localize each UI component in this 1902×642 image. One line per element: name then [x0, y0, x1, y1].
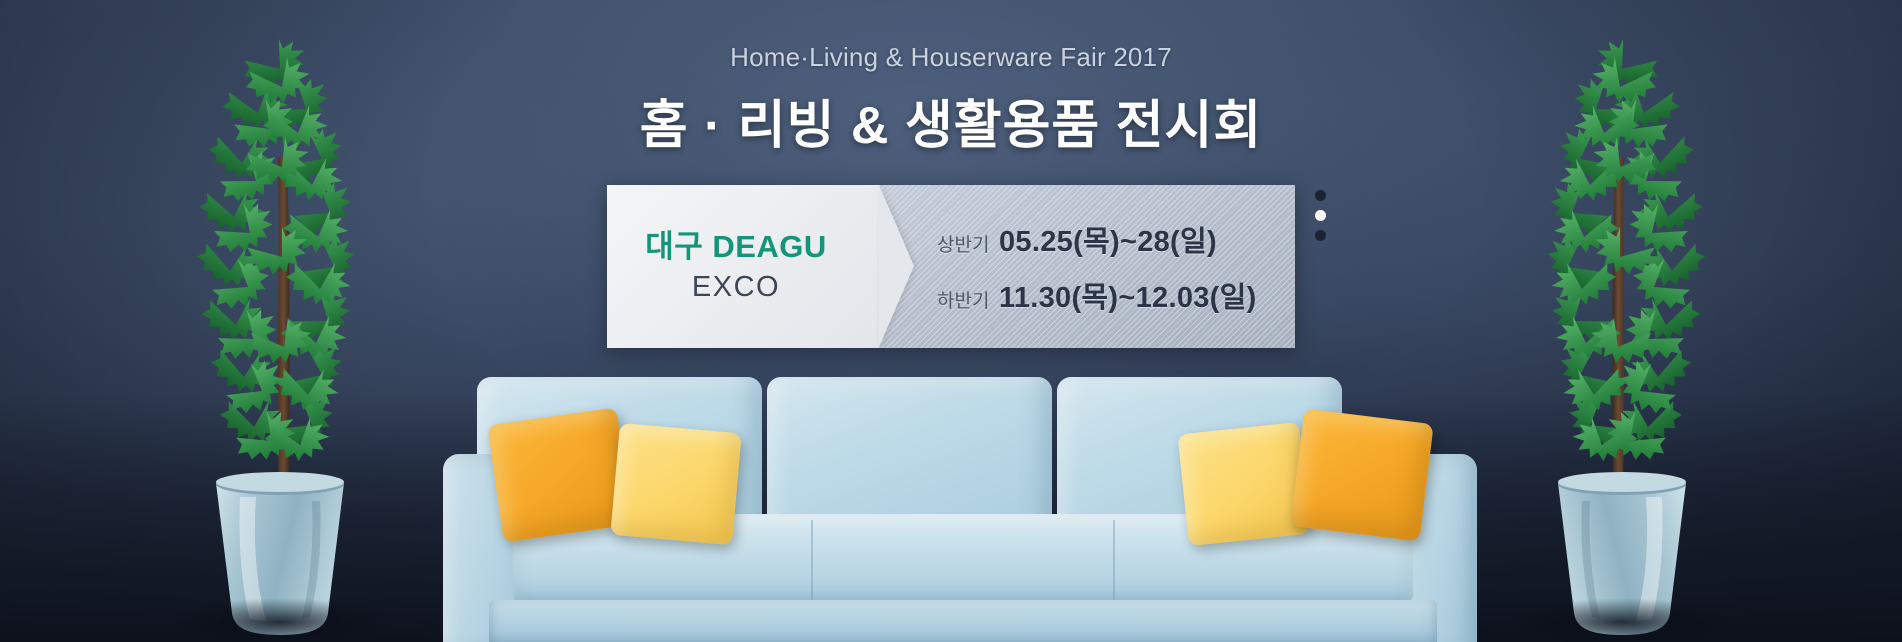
sofa-base	[489, 600, 1437, 642]
seat-seam	[811, 520, 813, 600]
schedule-row: 상반기 05.25(목)~28(일)	[937, 218, 1295, 260]
sofa	[455, 377, 1465, 642]
carousel-dot-2[interactable]	[1315, 210, 1326, 221]
schedule-date-first-half: 05.25(목)~28(일)	[999, 218, 1217, 260]
venue-panel: 대구 DEAGU EXCO	[607, 185, 879, 348]
pot-shadow-right	[1507, 598, 1737, 642]
schedule-label-first-half: 상반기	[937, 230, 999, 257]
throw-pillow-yellow	[610, 423, 741, 545]
info-box-wrap: 대구 DEAGU EXCO 상반기 05.25(목)~28(일) 하반기 11.…	[0, 185, 1902, 348]
event-info-box[interactable]: 대구 DEAGU EXCO 상반기 05.25(목)~28(일) 하반기 11.…	[607, 185, 1295, 348]
throw-pillow-yellow	[1177, 422, 1310, 546]
carousel-dot-1[interactable]	[1315, 190, 1326, 201]
carousel-indicator[interactable]	[1315, 190, 1326, 241]
schedule-date-second-half: 11.30(목)~12.03(일)	[999, 274, 1257, 316]
schedule-label-second-half: 하반기	[937, 286, 999, 313]
promo-banner: Home·Living & Houserware Fair 2017 홈 · 리…	[0, 0, 1902, 642]
banner-title: 홈 · 리빙 & 생활용품 전시회	[0, 83, 1902, 158]
venue-name: EXCO	[692, 271, 780, 304]
throw-pillow-orange	[1290, 409, 1433, 542]
carousel-dot-3[interactable]	[1315, 230, 1326, 241]
pot-shadow-left	[165, 598, 395, 642]
schedule-panel: 상반기 05.25(목)~28(일) 하반기 11.30(목)~12.03(일)	[879, 185, 1295, 348]
banner-subtitle: Home·Living & Houserware Fair 2017	[0, 42, 1902, 73]
seat-seam	[1113, 520, 1115, 600]
venue-city: 대구 DEAGU	[645, 229, 827, 265]
schedule-row: 하반기 11.30(목)~12.03(일)	[937, 274, 1295, 316]
headline-block: Home·Living & Houserware Fair 2017 홈 · 리…	[0, 0, 1902, 158]
